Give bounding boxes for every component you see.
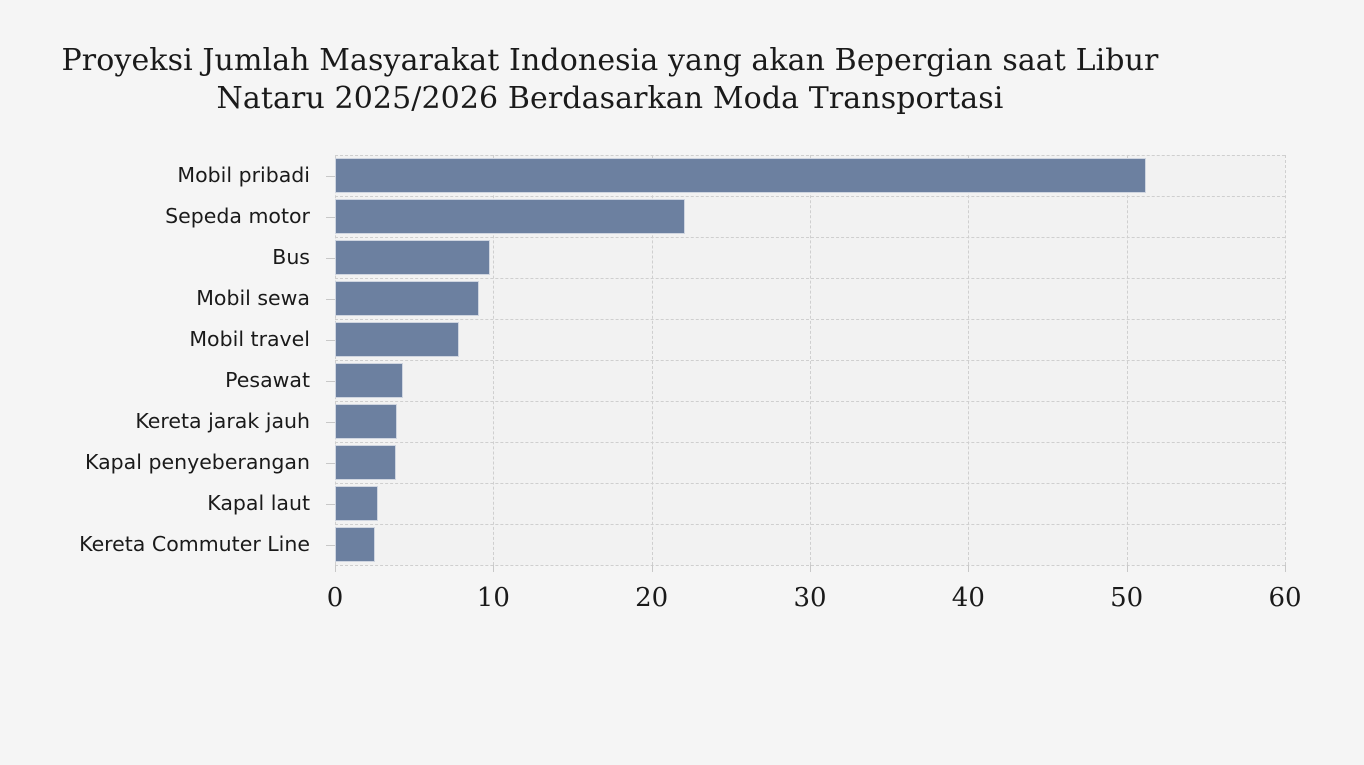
chart-figure: Proyeksi Jumlah Masyarakat Indonesia yan… xyxy=(0,0,1364,765)
bar-sepeda-motor[interactable] xyxy=(335,199,685,234)
x-axis-tick-mark xyxy=(335,565,336,572)
x-axis-tick-label: 40 xyxy=(952,583,985,613)
bar-kereta-commuter-line[interactable] xyxy=(335,527,375,562)
x-axis-tick-mark xyxy=(968,565,969,572)
x-axis-tick-mark xyxy=(810,565,811,572)
y-axis-tick-mark xyxy=(326,299,335,300)
bar-row xyxy=(335,442,1285,483)
y-axis-labels: Mobil pribadiSepeda motorBusMobil sewaMo… xyxy=(0,155,310,565)
bar-mobil-sewa[interactable] xyxy=(335,281,479,316)
y-axis-tick-label: Kereta Commuter Line xyxy=(79,524,310,565)
y-axis-tick-label: Mobil travel xyxy=(189,319,310,360)
bar-row xyxy=(335,155,1285,196)
bar-mobil-pribadi[interactable] xyxy=(335,158,1146,193)
x-axis-tick-label: 60 xyxy=(1268,583,1301,613)
y-axis-tick-mark xyxy=(326,176,335,177)
bar-bus[interactable] xyxy=(335,240,490,275)
bar-kapal-laut[interactable] xyxy=(335,486,378,521)
x-axis-tick-mark xyxy=(1285,565,1286,572)
bar-row xyxy=(335,360,1285,401)
x-axis-tick-mark xyxy=(493,565,494,572)
bar-row xyxy=(335,237,1285,278)
bar-row xyxy=(335,524,1285,565)
bar-row xyxy=(335,401,1285,442)
x-axis-tick-mark xyxy=(1127,565,1128,572)
plot-area xyxy=(335,155,1285,565)
x-axis-tick-mark xyxy=(652,565,653,572)
y-axis-tick-mark xyxy=(326,463,335,464)
y-axis-tick-mark xyxy=(326,422,335,423)
y-axis-tick-label: Pesawat xyxy=(225,360,310,401)
y-axis-tick-mark xyxy=(326,381,335,382)
bar-row xyxy=(335,483,1285,524)
y-axis-tick-label: Bus xyxy=(272,237,310,278)
y-axis-tick-label: Mobil sewa xyxy=(196,278,310,319)
y-axis-tick-label: Mobil pribadi xyxy=(177,155,310,196)
bar-row xyxy=(335,319,1285,360)
bar-series xyxy=(335,155,1285,565)
bar-row xyxy=(335,278,1285,319)
y-axis-tick-mark xyxy=(326,340,335,341)
y-axis-tick-mark xyxy=(326,545,335,546)
x-axis-tick-label: 20 xyxy=(635,583,668,613)
bar-kereta-jarak-jauh[interactable] xyxy=(335,404,397,439)
bar-mobil-travel[interactable] xyxy=(335,322,459,357)
y-axis-tick-mark xyxy=(326,217,335,218)
y-axis-tick-mark xyxy=(326,258,335,259)
x-axis-tick-label: 10 xyxy=(477,583,510,613)
x-axis-tick-label: 30 xyxy=(793,583,826,613)
vertical-gridline-60 xyxy=(1285,155,1286,565)
x-axis-tick-label: 50 xyxy=(1110,583,1143,613)
y-axis-tick-mark xyxy=(326,504,335,505)
bar-pesawat[interactable] xyxy=(335,363,403,398)
y-axis-tick-label: Kereta jarak jauh xyxy=(135,401,310,442)
x-axis-labels: 0102030405060 xyxy=(0,583,1364,623)
bar-kapal-penyeberangan[interactable] xyxy=(335,445,396,480)
chart-title: Proyeksi Jumlah Masyarakat Indonesia yan… xyxy=(0,42,1220,117)
x-axis-tick-label: 0 xyxy=(327,583,344,613)
y-axis-tick-label: Kapal laut xyxy=(207,483,310,524)
y-axis-tick-label: Kapal penyeberangan xyxy=(85,442,310,483)
y-axis-tick-label: Sepeda motor xyxy=(165,196,310,237)
bar-row xyxy=(335,196,1285,237)
